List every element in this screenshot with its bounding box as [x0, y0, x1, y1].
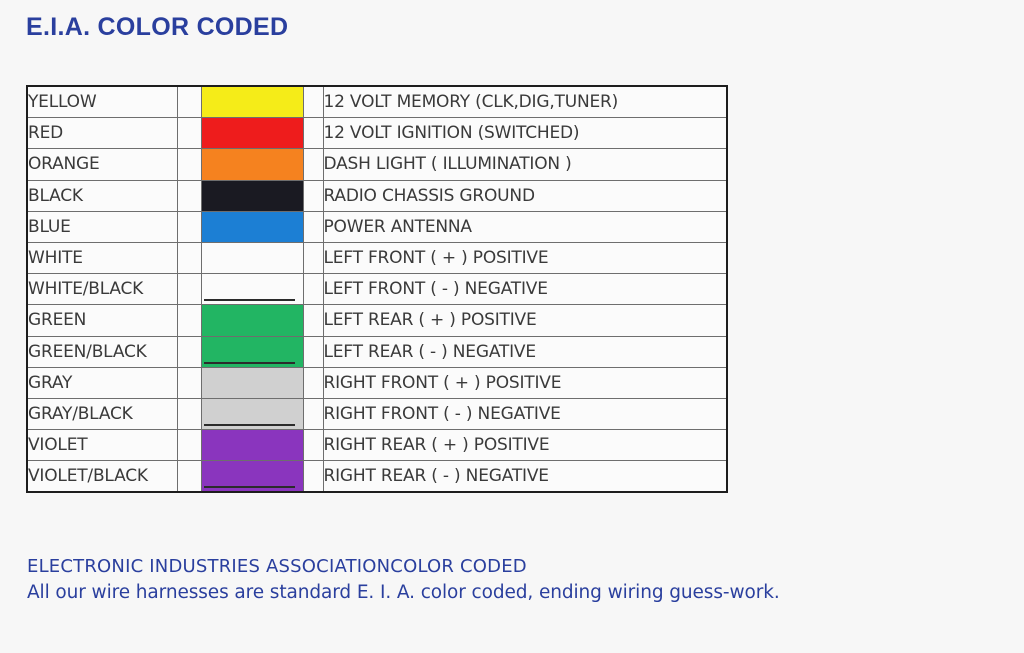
spacer-cell [177, 367, 201, 398]
swatch-box [202, 149, 303, 179]
wire-function-description: POWER ANTENNA [323, 211, 727, 242]
black-tracer-stripe [204, 299, 295, 301]
spacer-cell [177, 149, 201, 180]
spacer-cell-2 [303, 86, 323, 118]
spacer-cell [177, 336, 201, 367]
swatch-box [202, 118, 303, 148]
page-title: E.I.A. COLOR CODED [26, 13, 288, 42]
swatch-fill [202, 149, 303, 179]
table-row: GREENLEFT REAR ( + ) POSITIVE [27, 305, 727, 336]
swatch-box [202, 305, 303, 335]
wire-color-name: BLACK [27, 180, 177, 211]
wire-function-description: RIGHT FRONT ( - ) NEGATIVE [323, 398, 727, 429]
wire-color-name: VIOLET/BLACK [27, 461, 177, 493]
spacer-cell-2 [303, 336, 323, 367]
spacer-cell-2 [303, 305, 323, 336]
spacer-cell-2 [303, 211, 323, 242]
wire-color-name: GRAY [27, 367, 177, 398]
spacer-cell [177, 274, 201, 305]
wire-color-name: RED [27, 118, 177, 149]
wire-function-description: LEFT REAR ( - ) NEGATIVE [323, 336, 727, 367]
spacer-cell [177, 461, 201, 493]
wire-color-name: WHITE [27, 242, 177, 273]
spacer-cell-2 [303, 461, 323, 493]
spacer-cell-2 [303, 118, 323, 149]
wire-color-swatch [201, 398, 303, 429]
spacer-cell-2 [303, 242, 323, 273]
table-row: VIOLET/BLACKRIGHT REAR ( - ) NEGATIVE [27, 461, 727, 493]
swatch-box [202, 87, 303, 117]
table-row: ORANGEDASH LIGHT ( ILLUMINATION ) [27, 149, 727, 180]
wire-color-name: GREEN/BLACK [27, 336, 177, 367]
swatch-box [202, 212, 303, 242]
spacer-cell [177, 430, 201, 461]
wire-color-name: WHITE/BLACK [27, 274, 177, 305]
wire-color-name: VIOLET [27, 430, 177, 461]
caption-block: ELECTRONIC INDUSTRIES ASSOCIATIONCOLOR C… [27, 556, 780, 603]
table-row: GREEN/BLACKLEFT REAR ( - ) NEGATIVE [27, 336, 727, 367]
caption-line-2: All our wire harnesses are standard E. I… [27, 582, 780, 603]
wire-color-swatch [201, 274, 303, 305]
swatch-fill [202, 212, 303, 242]
wire-color-swatch [201, 180, 303, 211]
table-row: BLUEPOWER ANTENNA [27, 211, 727, 242]
spacer-cell [177, 118, 201, 149]
wire-color-swatch [201, 86, 303, 118]
table-row: GRAY/BLACKRIGHT FRONT ( - ) NEGATIVE [27, 398, 727, 429]
wire-color-name: GRAY/BLACK [27, 398, 177, 429]
wire-function-description: RIGHT FRONT ( + ) POSITIVE [323, 367, 727, 398]
black-tracer-stripe [204, 362, 295, 364]
wire-color-swatch [201, 211, 303, 242]
spacer-cell-2 [303, 367, 323, 398]
wire-color-swatch [201, 118, 303, 149]
table-row: WHITE/BLACKLEFT FRONT ( - ) NEGATIVE [27, 274, 727, 305]
spacer-cell-2 [303, 430, 323, 461]
wire-color-code-table-body: YELLOW12 VOLT MEMORY (CLK,DIG,TUNER)RED1… [27, 86, 727, 492]
wire-color-code-table: YELLOW12 VOLT MEMORY (CLK,DIG,TUNER)RED1… [26, 85, 728, 493]
swatch-box [202, 430, 303, 460]
spacer-cell [177, 398, 201, 429]
wire-color-swatch [201, 367, 303, 398]
swatch-box [202, 368, 303, 398]
black-tracer-stripe [204, 486, 295, 488]
wire-function-description: LEFT FRONT ( - ) NEGATIVE [323, 274, 727, 305]
wire-color-swatch [201, 461, 303, 493]
table-row: WHITELEFT FRONT ( + ) POSITIVE [27, 242, 727, 273]
spacer-cell [177, 242, 201, 273]
spacer-cell [177, 180, 201, 211]
spacer-cell [177, 86, 201, 118]
swatch-fill [202, 181, 303, 211]
swatch-box [202, 274, 303, 304]
swatch-fill [202, 305, 303, 335]
swatch-box [202, 337, 303, 367]
swatch-box [202, 181, 303, 211]
table-row: GRAYRIGHT FRONT ( + ) POSITIVE [27, 367, 727, 398]
swatch-fill [202, 87, 303, 117]
wire-function-description: RIGHT REAR ( + ) POSITIVE [323, 430, 727, 461]
wire-function-description: RADIO CHASSIS GROUND [323, 180, 727, 211]
black-tracer-stripe [204, 424, 295, 426]
table-row: YELLOW12 VOLT MEMORY (CLK,DIG,TUNER) [27, 86, 727, 118]
spacer-cell-2 [303, 180, 323, 211]
swatch-box [202, 461, 303, 491]
spacer-cell [177, 305, 201, 336]
table-row: RED12 VOLT IGNITION (SWITCHED) [27, 118, 727, 149]
wire-color-name: GREEN [27, 305, 177, 336]
wire-color-swatch [201, 430, 303, 461]
swatch-box [202, 399, 303, 429]
table-row: VIOLETRIGHT REAR ( + ) POSITIVE [27, 430, 727, 461]
wire-color-swatch [201, 149, 303, 180]
wire-color-name: BLUE [27, 211, 177, 242]
wire-function-description: 12 VOLT IGNITION (SWITCHED) [323, 118, 727, 149]
wire-function-description: 12 VOLT MEMORY (CLK,DIG,TUNER) [323, 86, 727, 118]
spacer-cell [177, 211, 201, 242]
wire-function-description: DASH LIGHT ( ILLUMINATION ) [323, 149, 727, 180]
wire-function-description: LEFT REAR ( + ) POSITIVE [323, 305, 727, 336]
wire-function-description: RIGHT REAR ( - ) NEGATIVE [323, 461, 727, 493]
spacer-cell-2 [303, 274, 323, 305]
swatch-fill [202, 243, 303, 273]
wire-color-name: ORANGE [27, 149, 177, 180]
swatch-fill [202, 368, 303, 398]
swatch-fill [202, 430, 303, 460]
table-row: BLACKRADIO CHASSIS GROUND [27, 180, 727, 211]
spacer-cell-2 [303, 149, 323, 180]
wire-function-description: LEFT FRONT ( + ) POSITIVE [323, 242, 727, 273]
swatch-fill [202, 118, 303, 148]
wire-color-name: YELLOW [27, 86, 177, 118]
wire-color-swatch [201, 242, 303, 273]
caption-line-1: ELECTRONIC INDUSTRIES ASSOCIATIONCOLOR C… [27, 556, 780, 577]
spacer-cell-2 [303, 398, 323, 429]
swatch-box [202, 243, 303, 273]
wire-color-swatch [201, 305, 303, 336]
wire-color-swatch [201, 336, 303, 367]
